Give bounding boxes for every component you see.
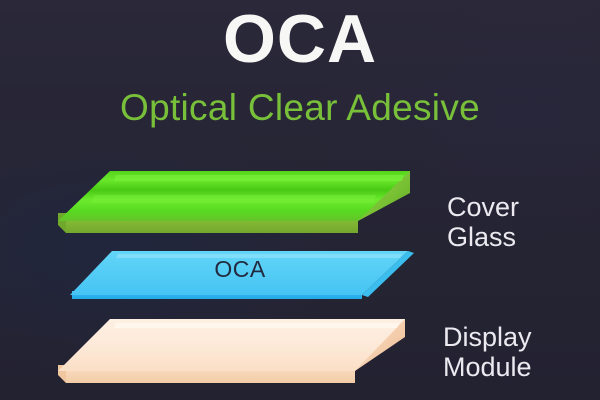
label-cover-glass: Cover Glass (447, 192, 519, 252)
page-title: OCA (0, 2, 600, 76)
cover-glass-shape (58, 163, 438, 243)
layer-display-module[interactable] (58, 313, 438, 395)
oca-layer-label: OCA (145, 256, 335, 282)
display-module-shape (58, 313, 438, 395)
oca-diagram-canvas: OCA Optical Clear Adesive (0, 0, 600, 400)
label-display-module: Display Module (443, 322, 532, 382)
layer-cover-glass[interactable] (58, 163, 438, 243)
page-subtitle: Optical Clear Adesive (0, 86, 600, 130)
